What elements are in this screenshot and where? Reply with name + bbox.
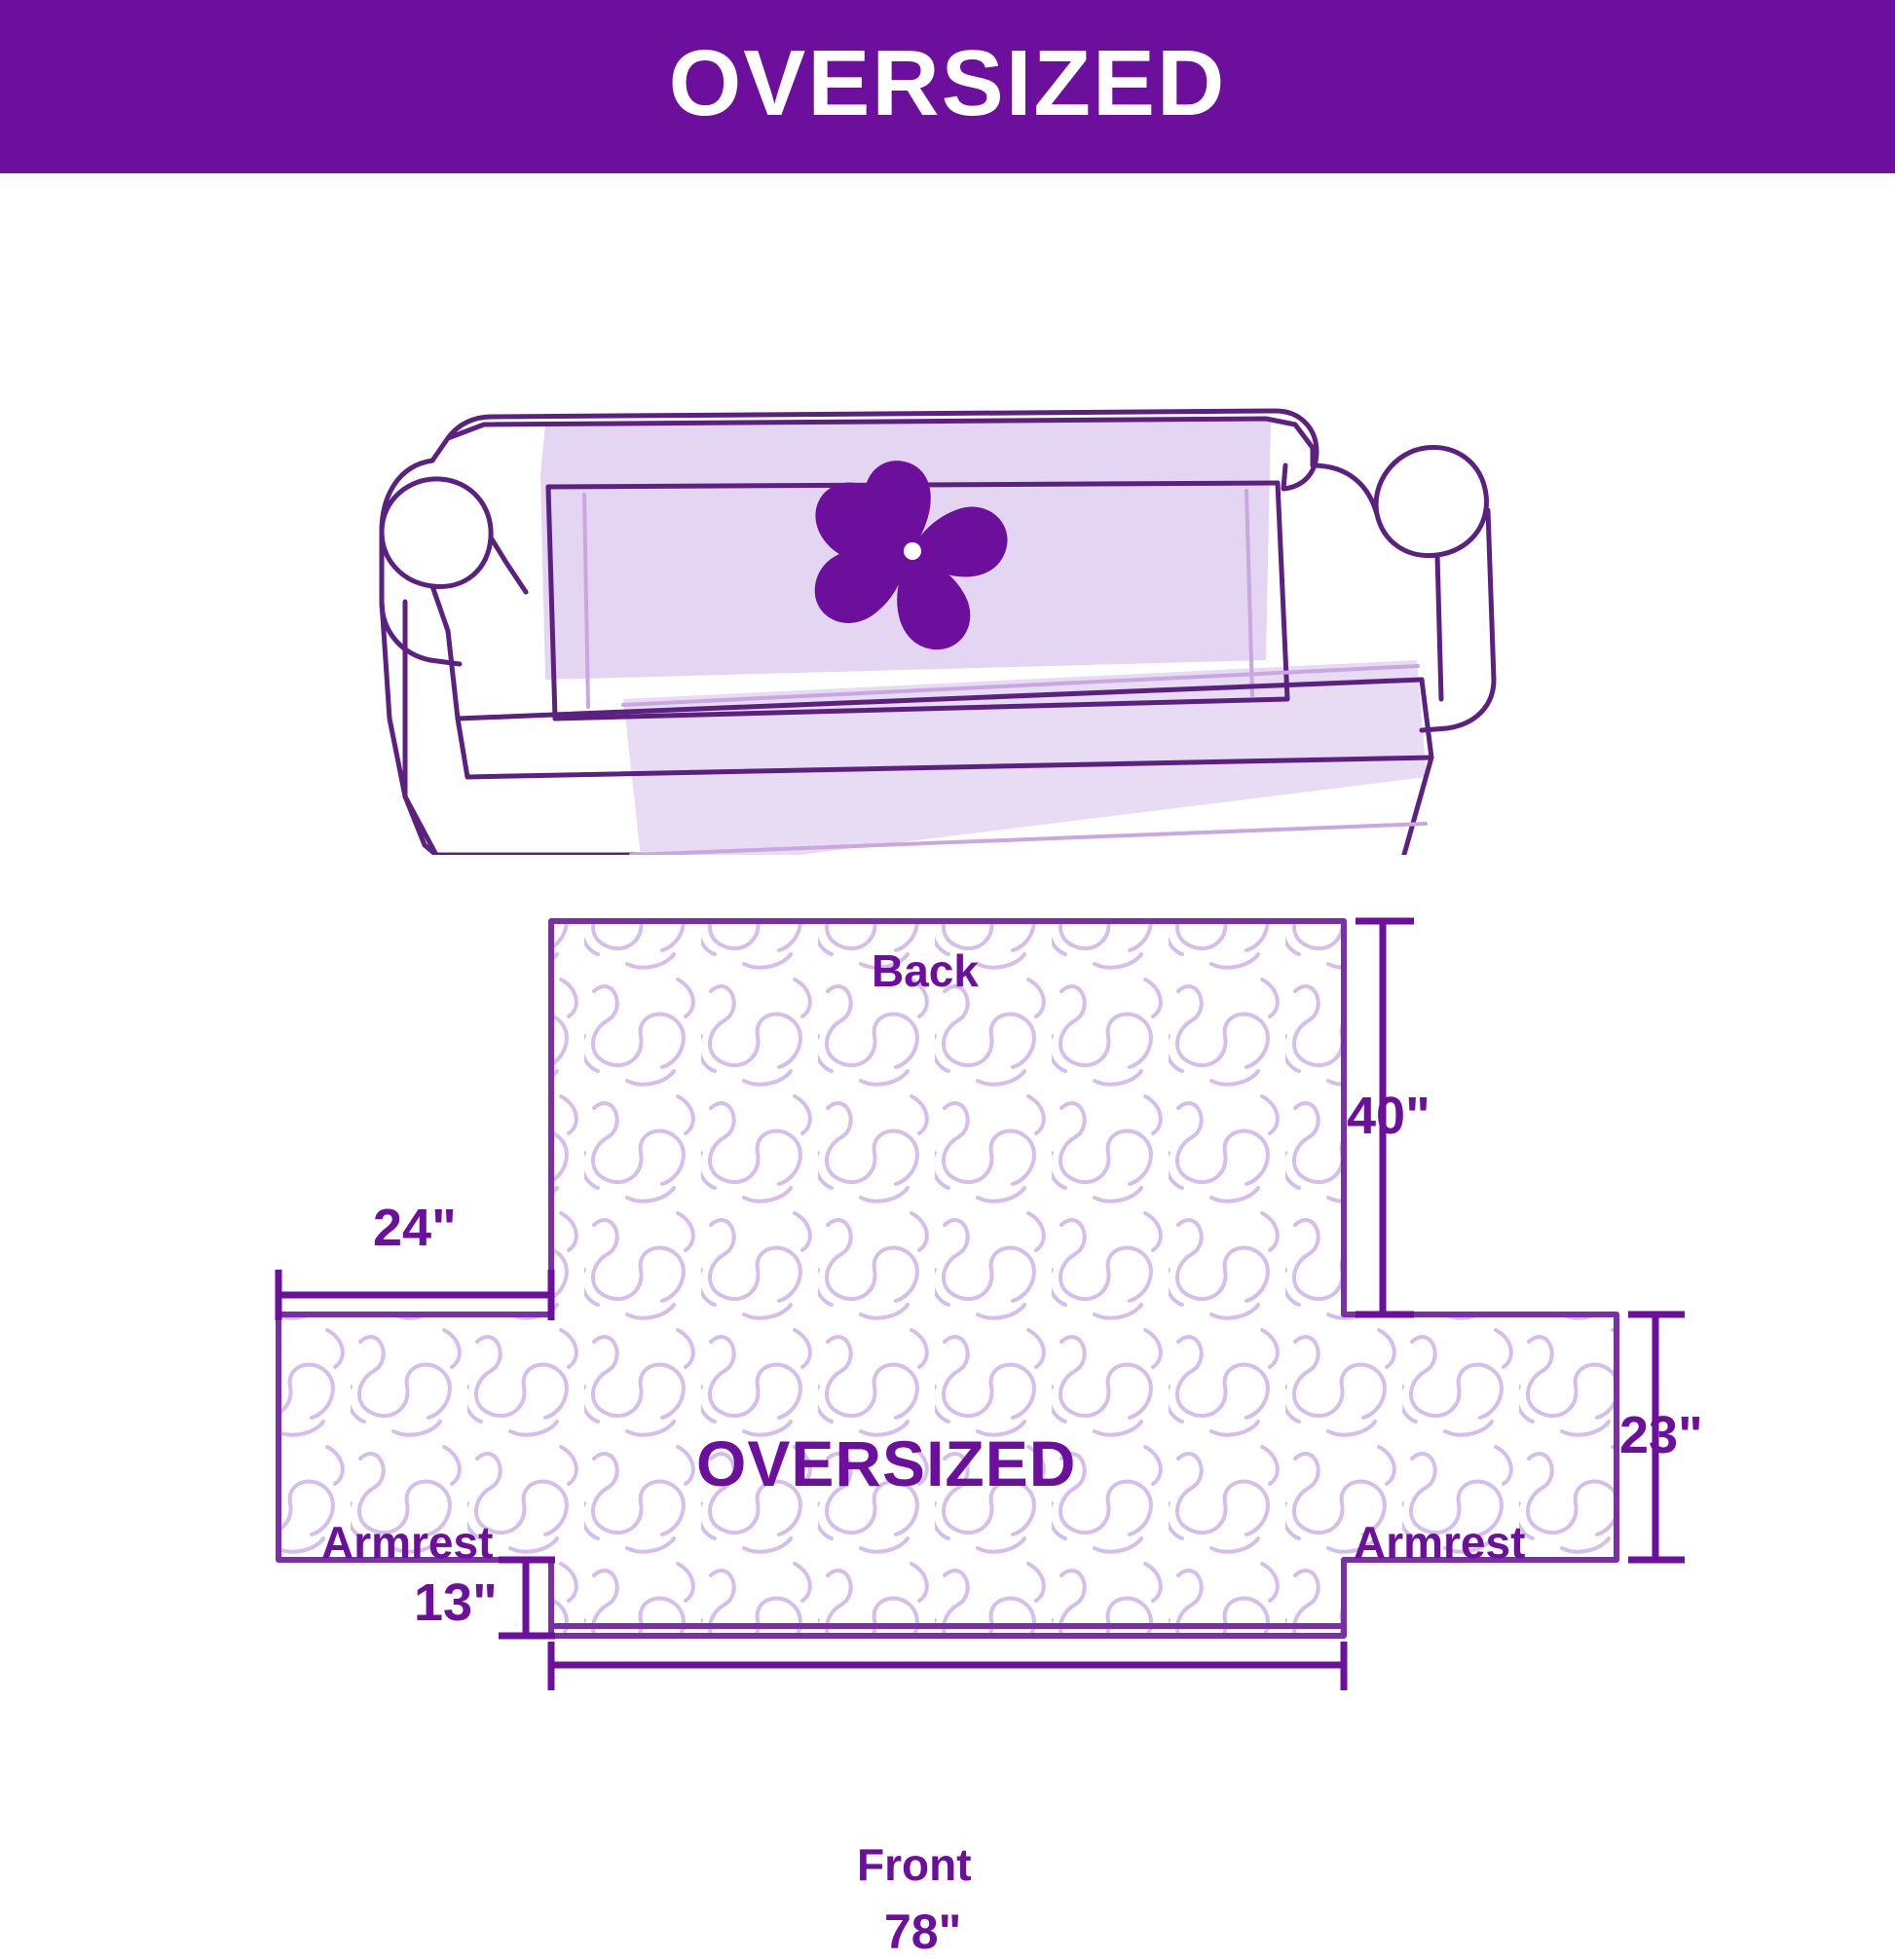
page-title: OVERSIZED [669, 37, 1227, 130]
label-armrest-left: Armrest [321, 1516, 493, 1569]
dimension-back-height: 40" [1347, 1086, 1431, 1146]
dimension-front-width: 78" [884, 1904, 961, 1960]
flat-cover-layout [0, 857, 1895, 1895]
cover-diagram-area: Back Front Armrest Armrest OVERSIZED 40"… [0, 857, 1895, 1895]
dimension-line-front-width [551, 1642, 1344, 1690]
label-front: Front [857, 1838, 972, 1891]
sofa-illustration-area [0, 173, 1895, 855]
header-banner: OVERSIZED [0, 0, 1895, 173]
dimension-front-drop: 13" [414, 1572, 498, 1633]
dimension-back-offset: 24" [373, 1198, 457, 1258]
sofa-line-drawing [0, 173, 1895, 855]
label-back: Back [872, 944, 979, 997]
dimension-armrest-height: 23" [1619, 1405, 1703, 1465]
label-armrest-right: Armrest [1354, 1516, 1525, 1569]
dimension-line-front-drop [499, 1560, 555, 1636]
cover-center-label: OVERSIZED [696, 1426, 1076, 1500]
